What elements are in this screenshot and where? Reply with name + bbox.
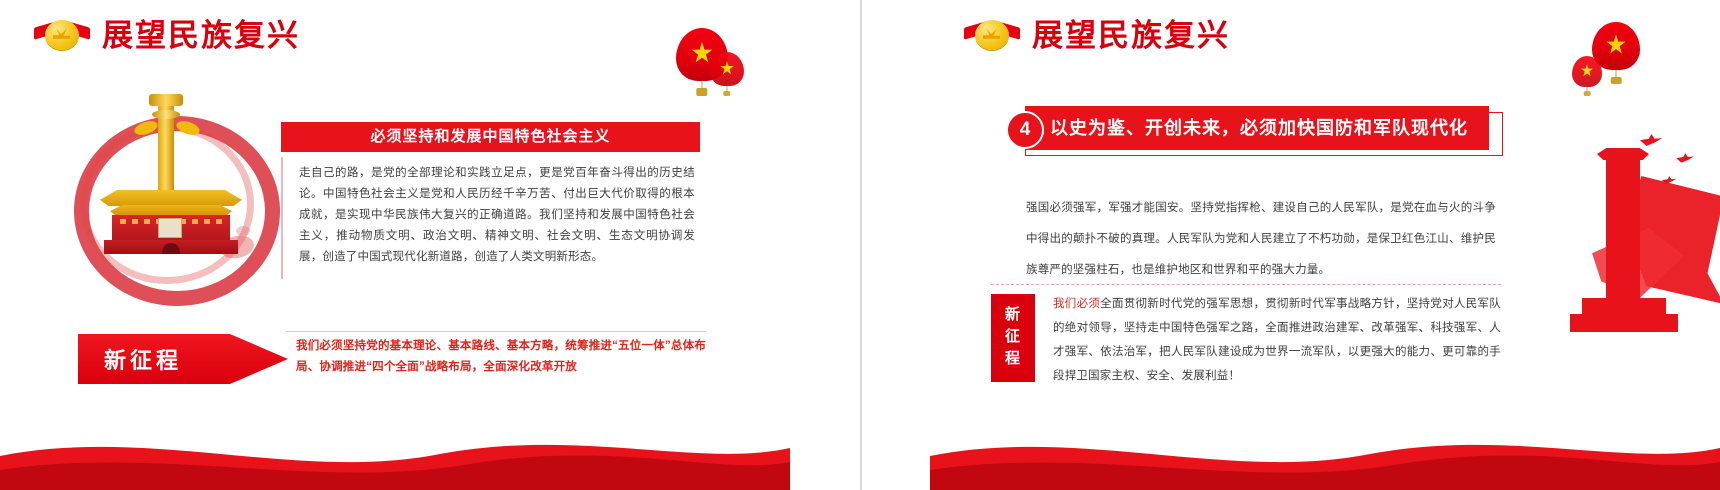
body-paragraph-right-container: 强国必须强军，军强才能国安。坚持党指挥枪、建设自己的人民军队，是党在血与火的斗争… [1026,193,1496,286]
slide-separator [790,0,930,490]
callout-tag-right: 新 征 程 [991,294,1035,382]
slide-left: 展望民族复兴 必须坚持和发展中国特色社会主义 [0,0,790,490]
slide-right: 展望民族复兴 4 以史为鉴、开创未来，必须加快国防和军队现代化 强国必须强军，军… [930,0,1720,490]
callout-text-right: 我们必须全面贯彻新时代党的强军思想，贯彻新时代军事战略方针，坚持党对人民军队的绝… [1053,292,1501,388]
callout-tag-left: 新征程 [78,334,288,384]
party-emblem-icon [36,18,88,52]
dove-icon [1676,153,1694,163]
section-number-badge: 4 [1006,111,1044,149]
page-title: 展望民族复兴 [102,20,300,51]
callout-tag-label: 新征程 [104,343,182,375]
section-heading-text: 以史为鉴、开创未来，必须加快国防和军队现代化 [1050,106,1468,150]
slide-deck: 展望民族复兴 必须坚持和发展中国特色社会主义 [0,0,1720,490]
bottom-wave-decoration-right [930,412,1720,490]
callout-tag-char-3: 程 [991,348,1035,370]
slide-header-right: 展望民族复兴 [966,18,1230,52]
body-paragraph-left-container: 走自己的路，是党的全部理论和实践立足点，更是党百年奋斗得出的历史结论。中国特色社… [281,157,701,279]
callout-body-text: 全面贯彻新时代党的强军思想，贯彻新时代军事战略方针，坚持党对人民军队的绝对领导，… [1053,298,1501,382]
callout-left: 新征程 我们必须坚持党的基本理论、基本路线、基本方略，统筹推进“五位一体”总体布… [78,332,706,384]
monument-illustration [1570,130,1720,350]
page-title: 展望民族复兴 [1032,20,1230,51]
tiananmen-illustration [72,108,262,283]
callout-divider [991,284,1501,285]
callout-text-left: 我们必须坚持党的基本理论、基本路线、基本方略，统筹推进“五位一体”总体布局、协调… [296,336,706,378]
section-title-bar-left: 必须坚持和发展中国特色社会主义 [281,122,700,152]
huabiao-column-icon [158,104,174,200]
callout-tag-char-1: 新 [991,304,1035,326]
bottom-wave-decoration-left [0,412,790,490]
callout-tag-char-2: 征 [991,326,1035,348]
party-emblem-icon [966,18,1018,52]
callout-divider [286,331,706,332]
hot-air-balloon-small-icon [1572,56,1602,96]
body-paragraph-left: 走自己的路，是党的全部理论和实践立足点，更是党百年奋斗得出的历史结论。中国特色社… [299,163,695,268]
section-title-text: 必须坚持和发展中国特色社会主义 [281,122,700,152]
section-heading-right: 4 以史为鉴、开创未来，必须加快国防和军队现代化 [1006,106,1489,150]
callout-highlight: 我们必须 [1053,298,1100,310]
monument-tower-icon [1606,158,1640,308]
hot-air-balloon-small-icon [710,52,744,96]
body-paragraph-right: 强国必须强军，军强才能国安。坚持党指挥枪、建设自己的人民军队，是党在血与火的斗争… [1026,193,1496,286]
dove-icon [1640,134,1662,146]
slide-header-left: 展望民族复兴 [36,18,300,52]
tiananmen-gate-icon [100,190,242,254]
